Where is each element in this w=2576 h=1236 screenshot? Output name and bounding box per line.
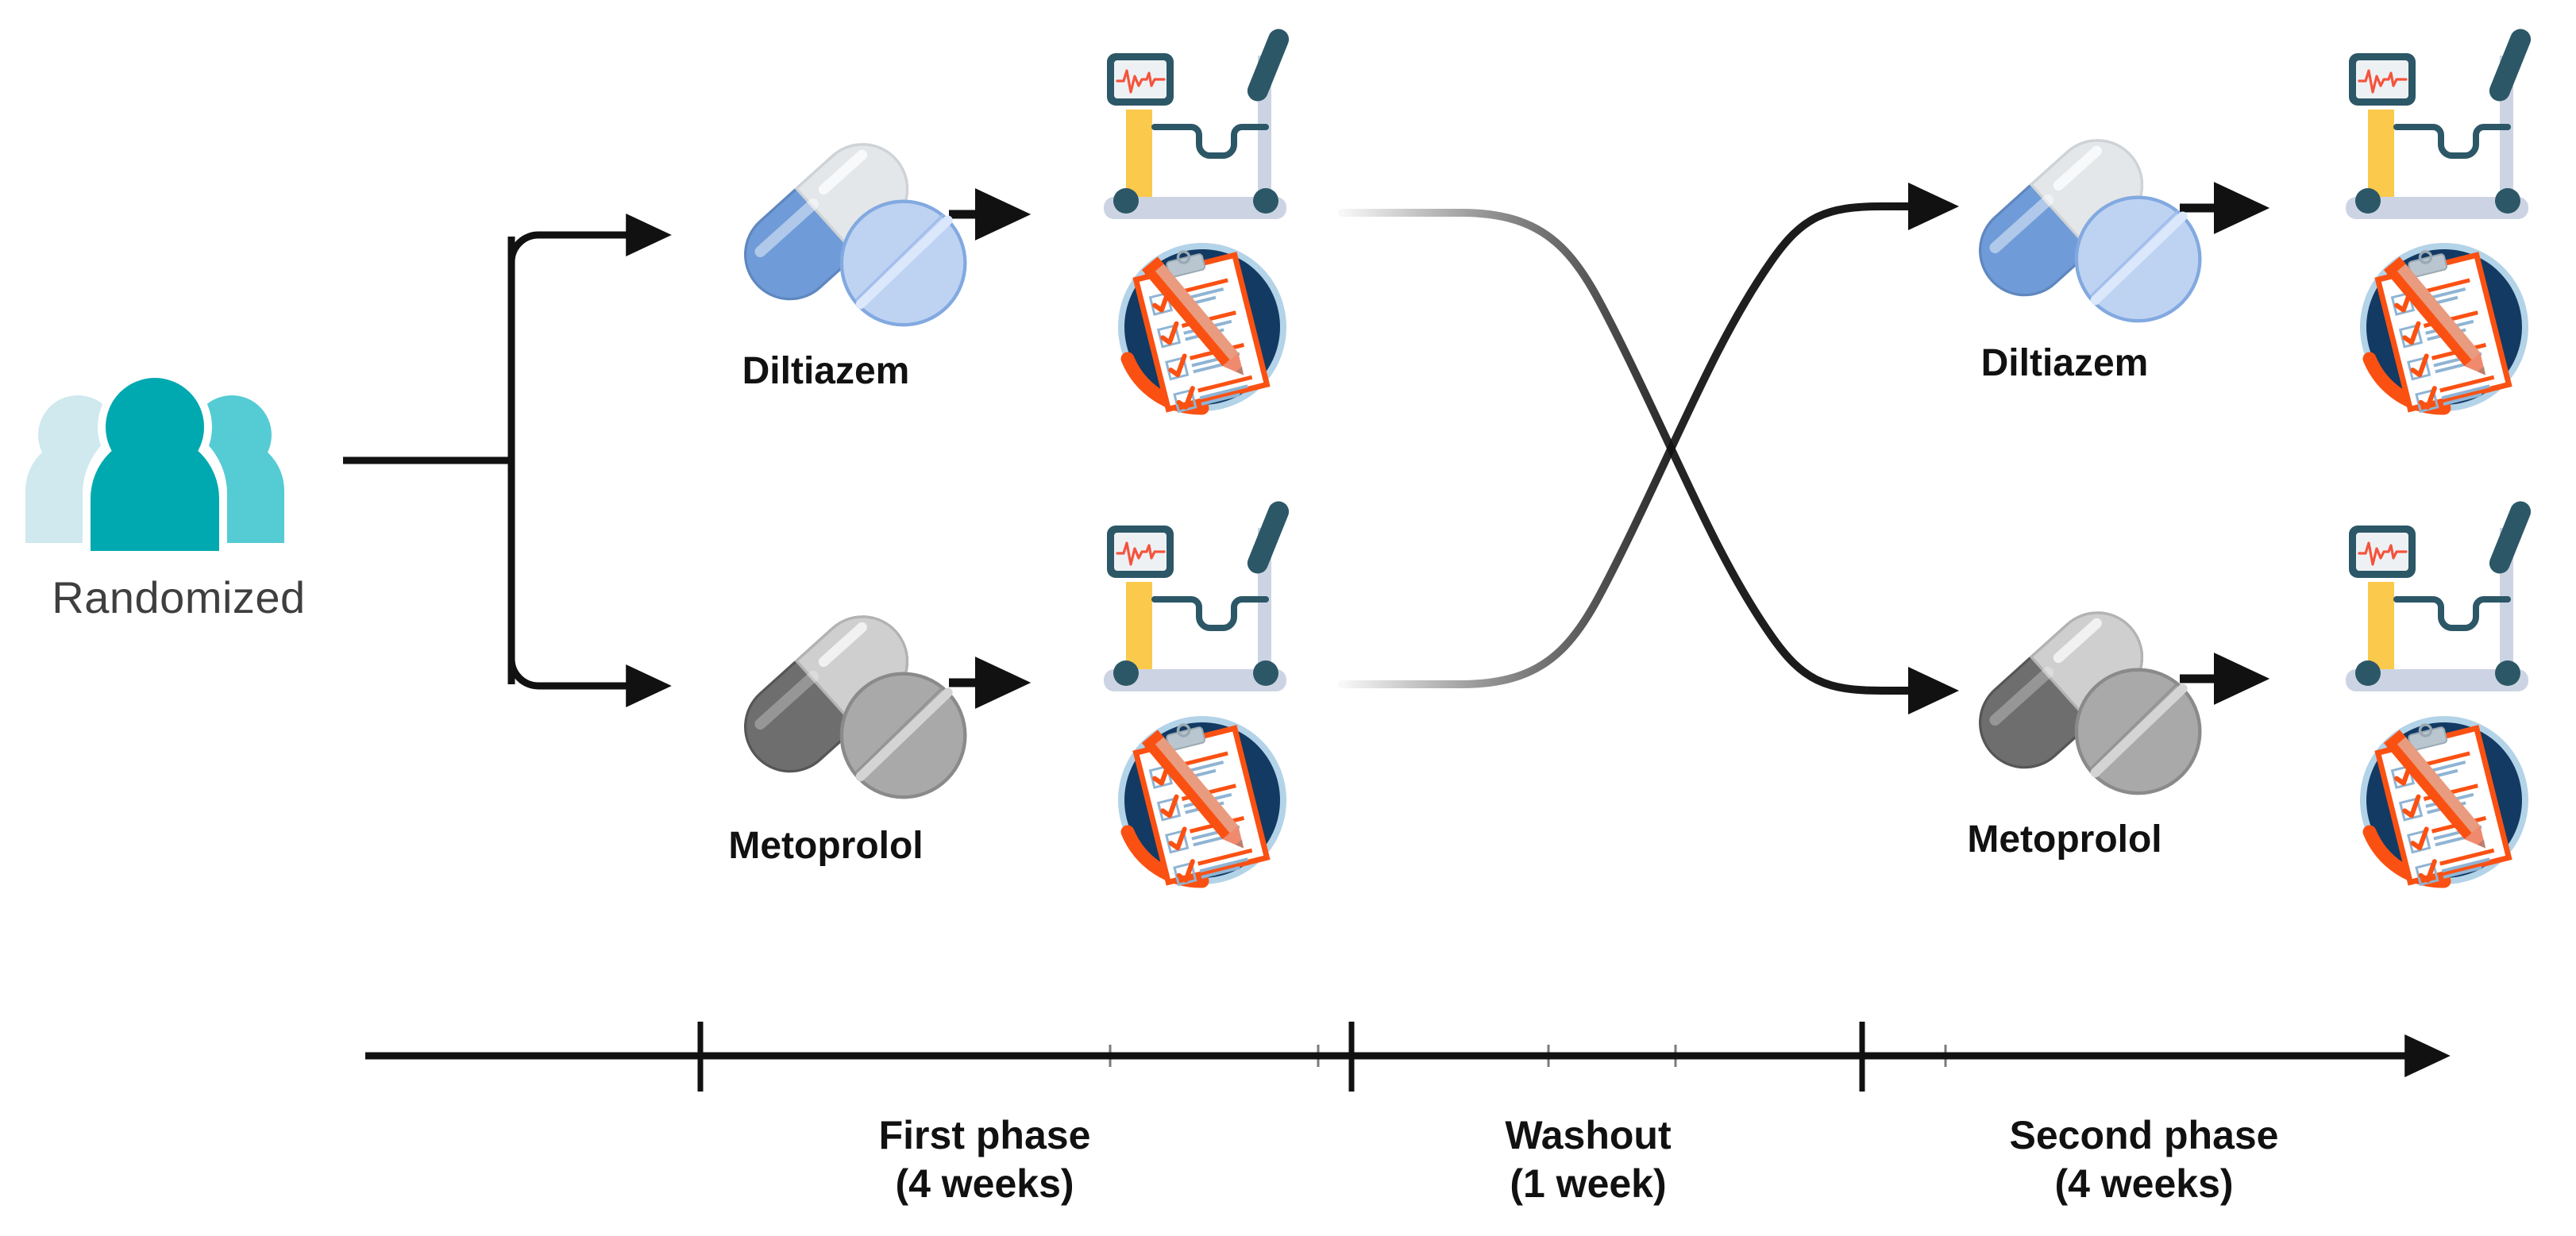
drug-label-phase2-top: Diltiazem [1922, 341, 2208, 385]
treadmill-ecg-icon [1104, 26, 1292, 219]
questionnaire-clipboard-icon [1118, 240, 1286, 414]
timeline-segment-first-phase: First phase (4 weeks) [794, 1111, 1175, 1208]
timeline-segment-name: Second phase [1938, 1111, 2350, 1160]
timeline-segment-duration: (4 weeks) [794, 1160, 1175, 1208]
treadmill-ecg-icon [2346, 26, 2534, 219]
timeline-segment-name: Washout [1421, 1111, 1755, 1160]
pill-capsule-blue-icon [727, 126, 965, 325]
timeline-segment-washout: Washout (1 week) [1421, 1111, 1755, 1208]
drug-label-phase1-top: Diltiazem [683, 349, 969, 393]
pill-capsule-gray-icon [727, 599, 965, 797]
timeline-segment-duration: (1 week) [1421, 1160, 1755, 1208]
randomized-label: Randomized [24, 572, 334, 623]
drug-label-phase2-bottom: Metoprolol [1914, 818, 2215, 861]
randomization-branch-arrows [343, 235, 663, 686]
drug-label-phase1-bottom: Metoprolol [675, 824, 977, 868]
treadmill-ecg-icon [1104, 499, 1292, 691]
timeline-segment-name: First phase [794, 1111, 1175, 1160]
questionnaire-clipboard-icon [1118, 713, 1286, 887]
crossover-trial-diagram: Randomized Diltiazem Metoprolol Diltiaze… [0, 0, 2576, 1236]
diagram-canvas [0, 0, 2576, 1236]
timeline-segment-duration: (4 weeks) [1938, 1160, 2350, 1208]
crossover-arrows [1342, 206, 1949, 691]
treadmill-ecg-icon [2346, 499, 2534, 691]
timeline-axis [365, 1022, 2442, 1092]
questionnaire-clipboard-icon [2360, 713, 2528, 887]
questionnaire-clipboard-icon [2360, 240, 2528, 414]
timeline-segment-second-phase: Second phase (4 weeks) [1938, 1111, 2350, 1208]
pill-capsule-blue-icon [1961, 122, 2200, 321]
group-of-people-icon [25, 370, 284, 551]
pill-capsule-gray-icon [1961, 595, 2200, 793]
